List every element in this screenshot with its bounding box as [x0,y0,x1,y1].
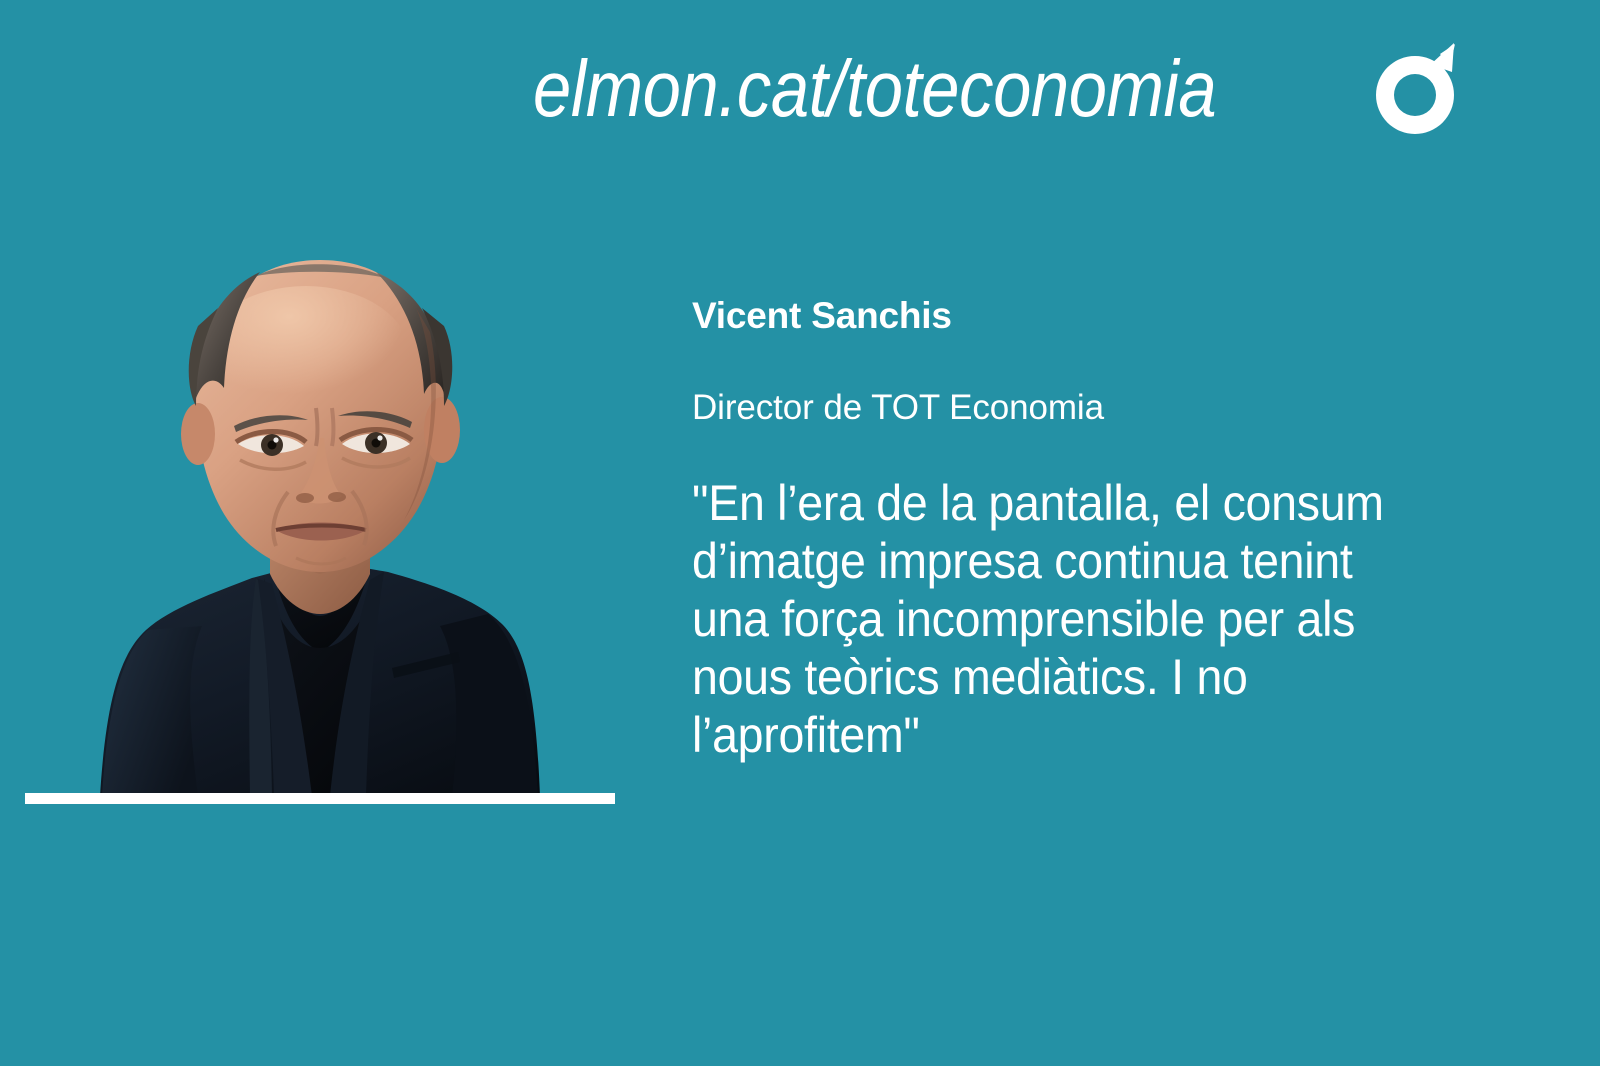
quote-text: "En l’era de la pantalla, el consum d’im… [692,474,1473,764]
portrait-underline-rule [25,793,615,804]
quote-line: "En l’era de la pantalla, el consum [692,474,1473,532]
person-name: Vicent Sanchis [692,293,1482,339]
site-url-header: elmon.cat/toteconomia [533,44,1238,134]
quote-text-block: Vicent Sanchis Director de TOT Economia … [692,293,1482,764]
quote-line: una força incomprensible per als [692,590,1473,648]
portrait-photo [20,248,620,796]
quote-line: nous teòrics mediàtics. I no [692,648,1473,706]
elmon-circle-speech-logo-icon [1362,42,1468,148]
quote-line: l’aprofitem" [692,706,1473,764]
person-role: Director de TOT Economia [692,386,1482,430]
quote-line: d’imatge impresa continua tenint [692,532,1473,590]
quote-card: elmon.cat/toteconomia [0,0,1600,1066]
